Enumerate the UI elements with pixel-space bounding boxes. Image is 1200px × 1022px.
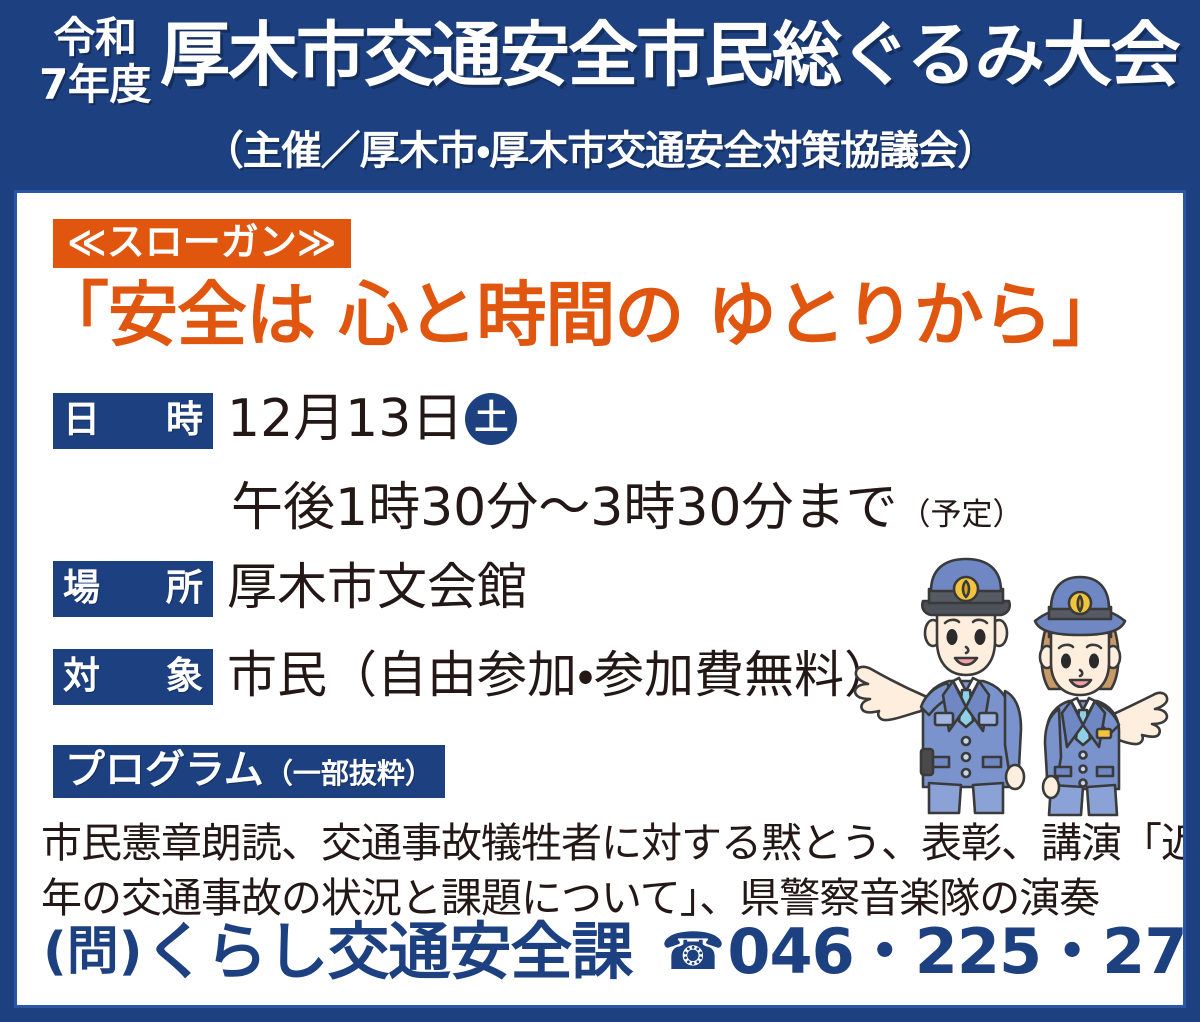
poster-header: 令和 7年度 厚木市交通安全市民総ぐるみ大会 （主催／厚木市・厚木市交通安全対策…: [0, 0, 1200, 186]
target-value: 市民（自由参加・参加費無料）: [227, 649, 894, 701]
place-value: 厚木市文会館: [227, 561, 527, 613]
poster-root: 令和 7年度 厚木市交通安全市民総ぐるみ大会 （主催／厚木市・厚木市交通安全対策…: [0, 0, 1200, 1022]
label-char-2: 時: [166, 401, 203, 438]
detail-row-place: 場 所 厚木市文会館: [53, 561, 527, 617]
contact-department: くらし交通安全課: [145, 921, 633, 983]
datetime-value: 12月13日 土: [227, 393, 517, 445]
date-text: 12月13日: [227, 393, 463, 445]
slogan-text: 「安全は 心と時間の ゆとりから」: [39, 279, 1169, 353]
era-block: 令和 7年度: [34, 16, 156, 107]
label-badge-place: 場 所: [53, 561, 213, 617]
page-title: 厚木市交通安全市民総ぐるみ大会: [160, 18, 1190, 94]
era-line-2: 7年度: [34, 63, 156, 108]
label-badge-datetime: 日 時: [53, 393, 213, 449]
label-badge-target: 対 象: [53, 649, 213, 705]
date-line-1: 12月13日 土: [227, 393, 517, 445]
era-line-1: 令和: [34, 16, 156, 61]
telephone-icon: ☎: [661, 926, 726, 978]
label-char-1: 場: [63, 569, 100, 606]
inquiry-icon: (問): [43, 926, 143, 978]
contact-telephone: 046・225・2760: [727, 921, 1186, 983]
page-subtitle: （主催／厚木市・厚木市交通安全対策協議会）: [0, 118, 1200, 176]
label-char-1: 日: [63, 401, 100, 438]
slogan-badge: ≪スローガン≫: [53, 219, 351, 268]
contact-bar: (問) くらし交通安全課 ☎ 046・225・2760: [43, 921, 1173, 983]
program-badge-sub: （一部抜粋）: [265, 760, 433, 788]
label-char-2: 象: [166, 657, 203, 694]
label-char-2: 所: [166, 569, 203, 606]
time-range: 午後1時30分〜3時30分まで: [231, 465, 898, 540]
program-badge-main: プログラム: [65, 750, 264, 790]
program-badge: プログラム （一部抜粋）: [53, 745, 445, 798]
label-char-1: 対: [63, 657, 100, 694]
content-panel: ≪スローガン≫ 「安全は 心と時間の ゆとりから」 日 時 12月13日 土 午…: [14, 190, 1186, 1008]
detail-row-datetime: 日 時 12月13日 土: [53, 393, 517, 449]
detail-row-target: 対 象 市民（自由参加・参加費無料）: [53, 649, 894, 705]
date-line-2: 午後1時30分〜3時30分まで （予定）: [231, 465, 1024, 540]
time-note: （予定）: [900, 489, 1024, 534]
weekday-badge: 土: [465, 393, 517, 445]
two-police-officers-illustration: [849, 545, 1169, 835]
